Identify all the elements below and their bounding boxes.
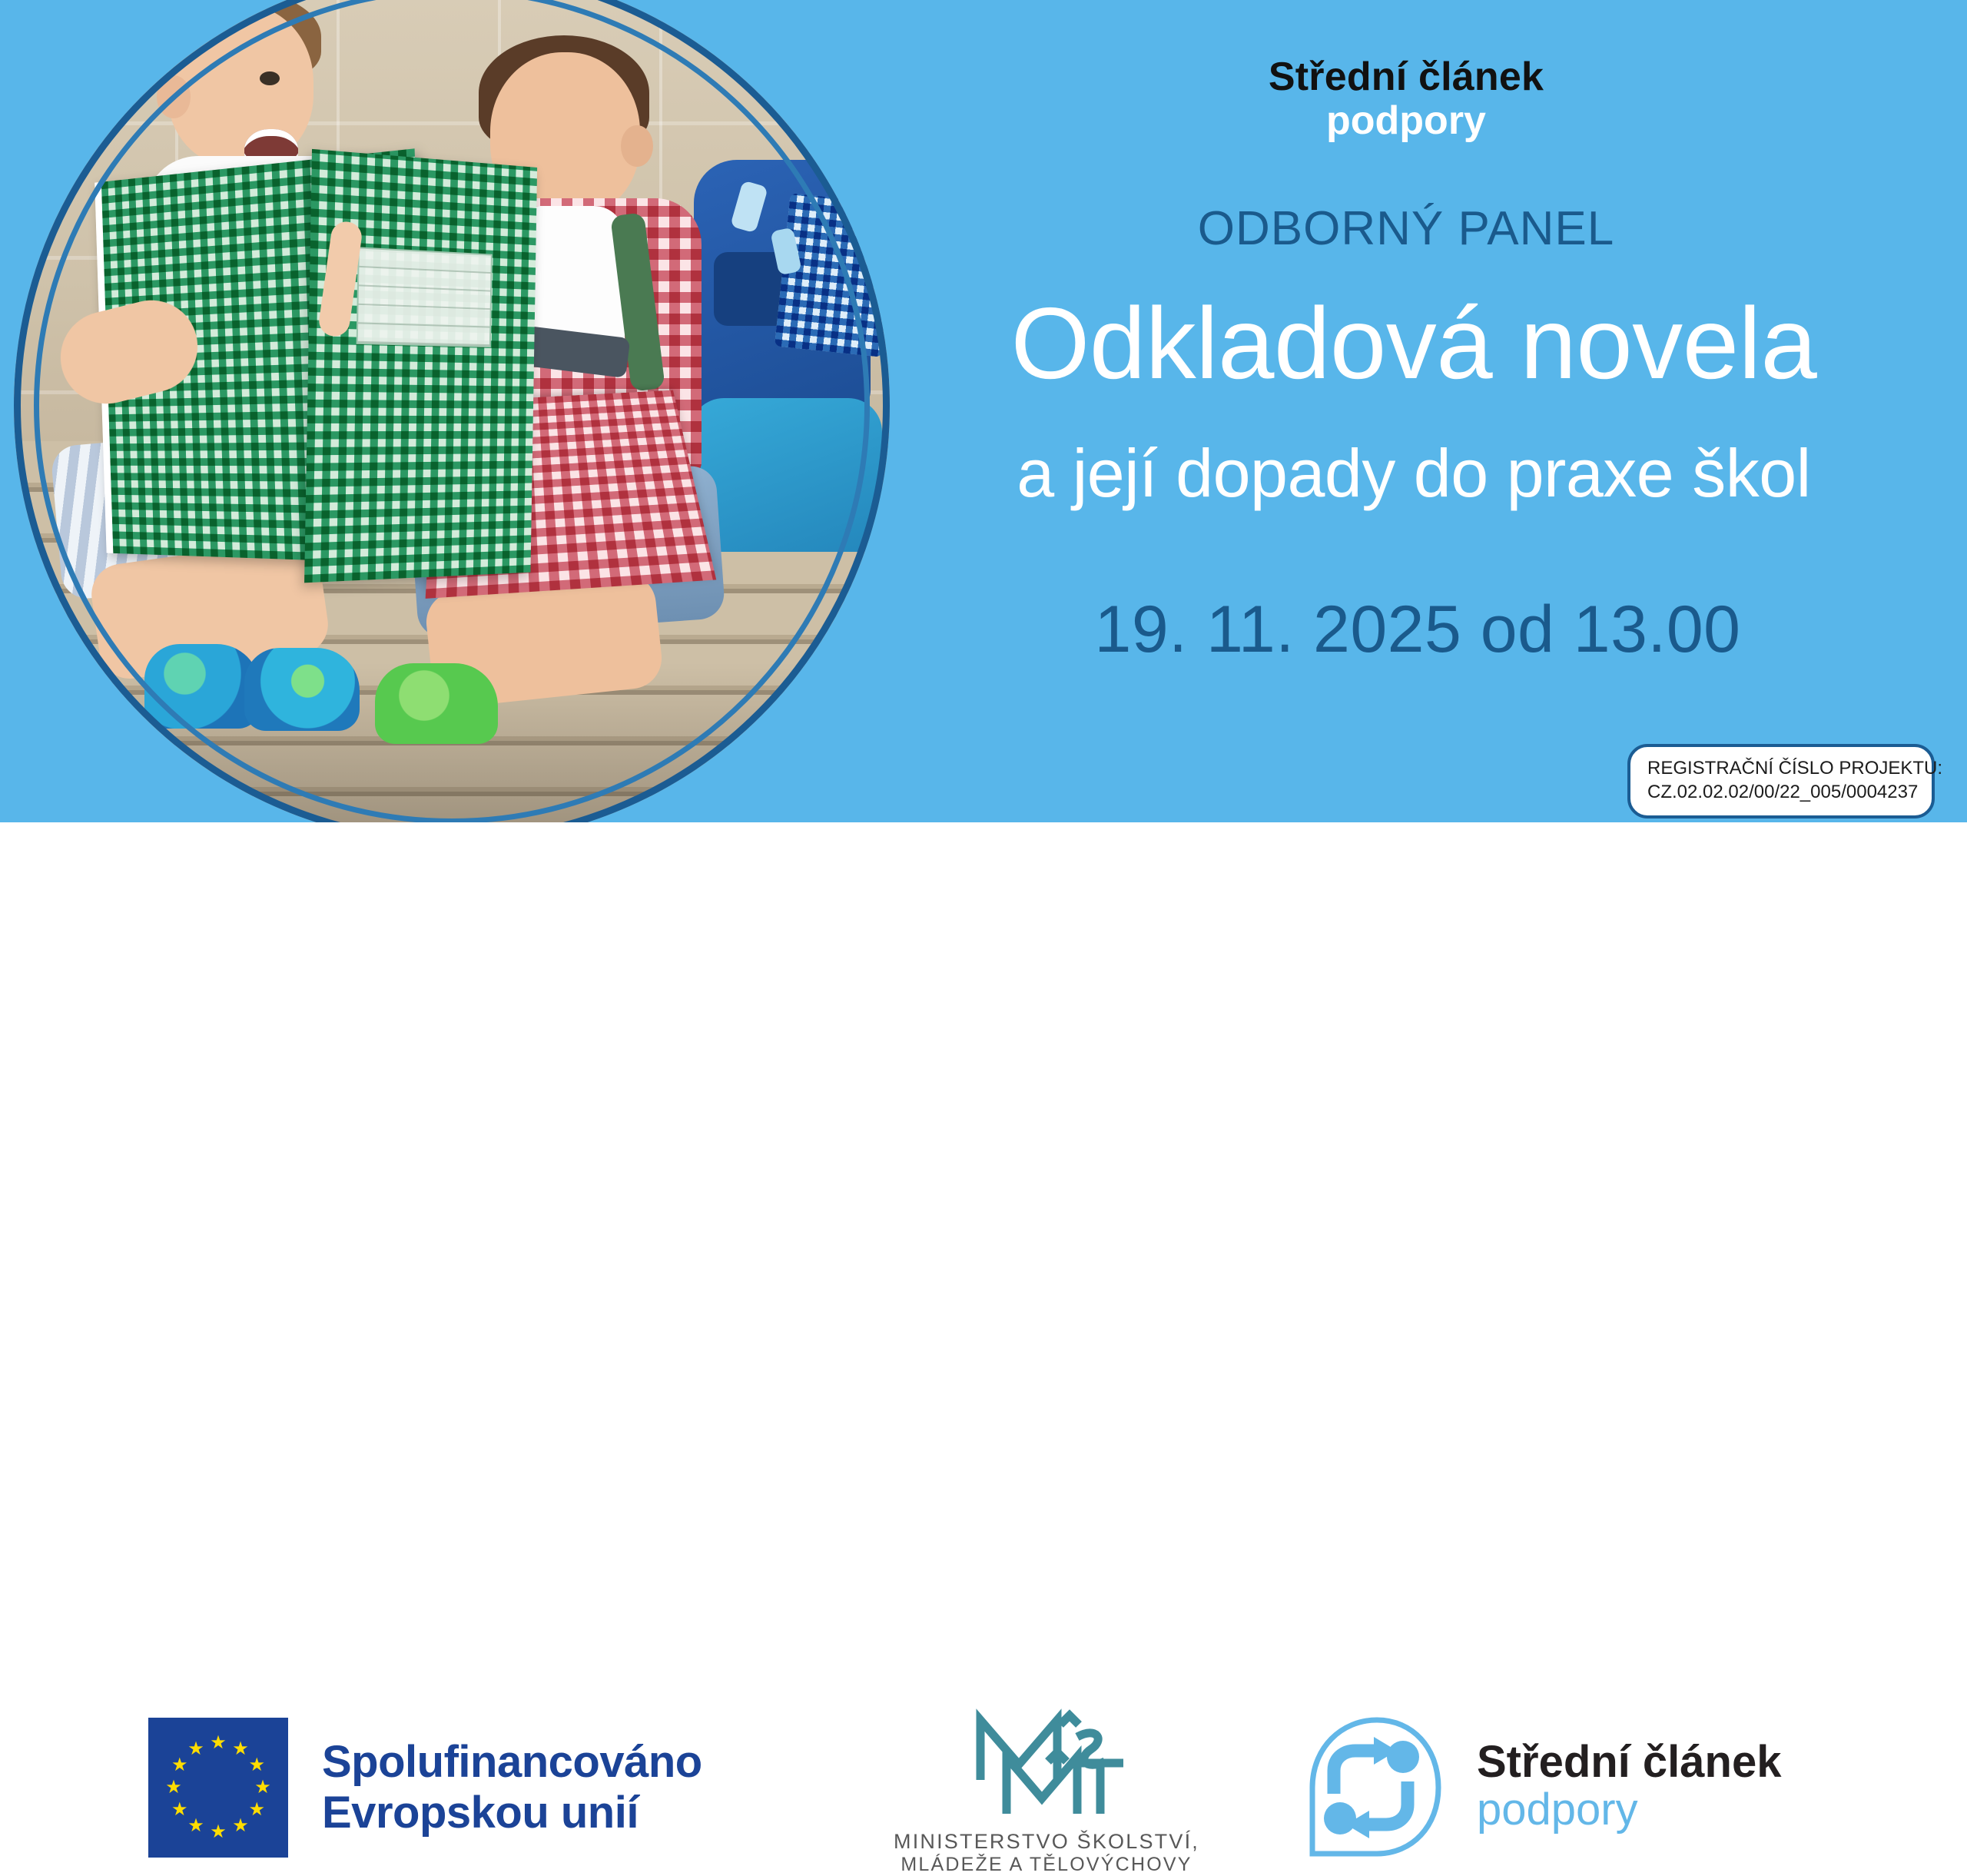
eu-flag-icon: ★★★★★★★★★★★★ — [148, 1718, 288, 1858]
eu-star-icon: ★ — [210, 1735, 227, 1751]
photo-illustration — [14, 0, 890, 822]
checkered-backpack-panel — [775, 193, 890, 357]
eu-star-icon: ★ — [248, 1801, 265, 1818]
logo-stredni-clanek-podpory: Střední článek podpory — [1306, 1714, 1781, 1860]
project-registration-box: REGISTRAČNÍ ČÍSLO PROJEKTU: CZ.02.02.02/… — [1627, 744, 1935, 818]
scp-text-line2: podpory — [1477, 1785, 1781, 1835]
event-banner: Střední článek podpory ODBORNÝ PANEL Odk… — [0, 0, 1967, 1107]
registration-number: CZ.02.02.02/00/22_005/0004237 — [1647, 781, 1918, 805]
left-boy-eye — [260, 71, 280, 85]
eu-star-icon: ★ — [248, 1757, 265, 1774]
eu-star-icon: ★ — [210, 1824, 227, 1841]
children-reading-photo — [14, 0, 890, 822]
left-boy-shoe-1 — [144, 644, 260, 729]
eu-star-icon: ★ — [171, 1801, 188, 1818]
eu-star-icon: ★ — [254, 1779, 271, 1796]
logo-european-union: ★★★★★★★★★★★★ Spolufinancováno Evropskou … — [148, 1718, 702, 1858]
eu-logo-text: Spolufinancováno Evropskou unií — [322, 1737, 702, 1838]
msmt-text-line1: MINISTERSTVO ŠKOLSTVÍ, — [885, 1830, 1208, 1854]
eu-star-icon: ★ — [171, 1757, 188, 1774]
footer-logo-bar: ★★★★★★★★★★★★ Spolufinancováno Evropskou … — [0, 822, 1967, 1107]
logo-msmt: MINISTERSTVO ŠKOLSTVÍ, MLÁDEŽE A TĚLOVÝC… — [885, 1706, 1208, 1876]
scp-logo-text: Střední článek podpory — [1477, 1738, 1781, 1835]
registration-label: REGISTRAČNÍ ČÍSLO PROJEKTU: — [1647, 757, 1918, 781]
eu-star-icon: ★ — [187, 1818, 204, 1834]
event-subtitle: a její dopady do praxe škol — [876, 438, 1952, 509]
page-title: Odkladová novela — [876, 292, 1952, 396]
event-eyebrow: ODBORNÝ PANEL — [907, 201, 1906, 256]
eu-text-line2: Evropskou unií — [322, 1788, 702, 1838]
left-boy-ear — [157, 75, 191, 118]
event-datetime: 19. 11. 2025 od 13.00 — [907, 592, 1929, 668]
eu-star-icon: ★ — [232, 1741, 249, 1758]
scp-text-line1: Střední článek — [1477, 1738, 1781, 1785]
brand-header-line2: podpory — [907, 98, 1906, 143]
left-boy-shoe-2 — [244, 648, 360, 731]
left-boy-notebook-right-page — [304, 149, 537, 583]
right-boy-ear — [621, 125, 653, 167]
hero-section: Střední článek podpory ODBORNÝ PANEL Odk… — [0, 0, 1967, 822]
notebook-name-label — [357, 247, 493, 347]
eu-text-line1: Spolufinancováno — [322, 1737, 702, 1788]
stredni-clanek-podpory-icon — [1306, 1714, 1445, 1860]
eu-star-icon: ★ — [165, 1779, 182, 1796]
brand-header: Střední článek podpory — [907, 55, 1906, 143]
brand-header-line1: Střední článek — [907, 55, 1906, 98]
right-boy-shoe — [375, 663, 498, 744]
msmt-logo-icon — [962, 1706, 1131, 1821]
msmt-text-line2: MLÁDEŽE A TĚLOVÝCHOVY — [885, 1854, 1208, 1876]
eu-star-icon: ★ — [187, 1741, 204, 1758]
eu-star-icon: ★ — [232, 1818, 249, 1834]
